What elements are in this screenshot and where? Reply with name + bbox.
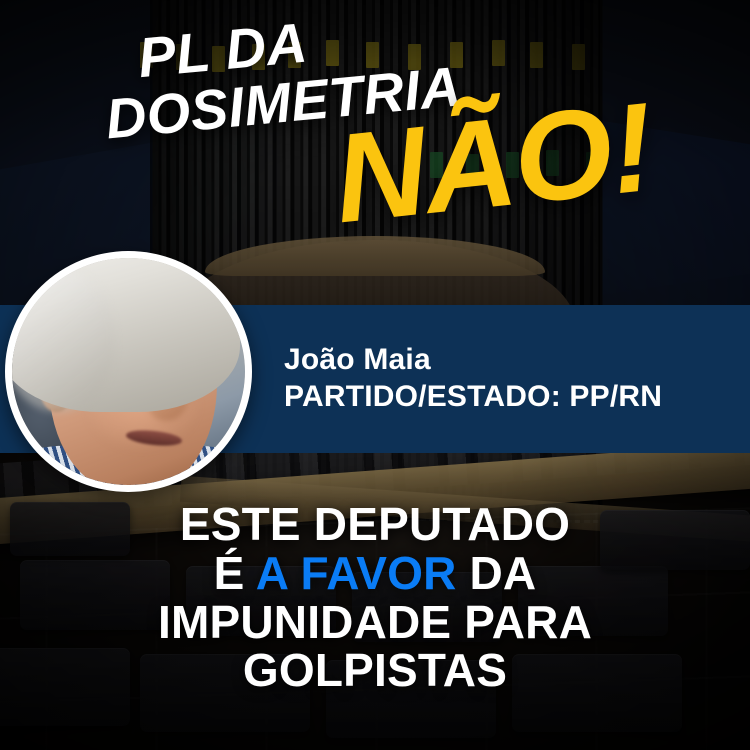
- deputy-portrait: [5, 251, 252, 492]
- campaign-poster: PL DA DOSIMETRIA NÃO! João Maia PARTIDO/…: [0, 0, 750, 750]
- callout-line-2-post: DA: [457, 547, 537, 599]
- callout-line-2-highlight: A FAVOR: [256, 547, 457, 599]
- headline-exclamation: NÃO!: [330, 95, 657, 231]
- deputy-banner-text: João Maia PARTIDO/ESTADO: PP/RN: [284, 343, 662, 415]
- callout-line-2: É A FAVOR DA: [0, 549, 750, 598]
- callout-line-1: ESTE DEPUTADO: [0, 500, 750, 549]
- callout-line-2-pre: É: [214, 547, 256, 599]
- callout-message: ESTE DEPUTADO É A FAVOR DA IMPUNIDADE PA…: [0, 500, 750, 695]
- deputy-party-state: PARTIDO/ESTADO: PP/RN: [284, 380, 662, 415]
- deputy-name: João Maia: [284, 343, 662, 378]
- callout-line-3: IMPUNIDADE PARA: [0, 598, 750, 647]
- callout-line-4: GOLPISTAS: [0, 646, 750, 695]
- portrait-photo: [12, 258, 245, 485]
